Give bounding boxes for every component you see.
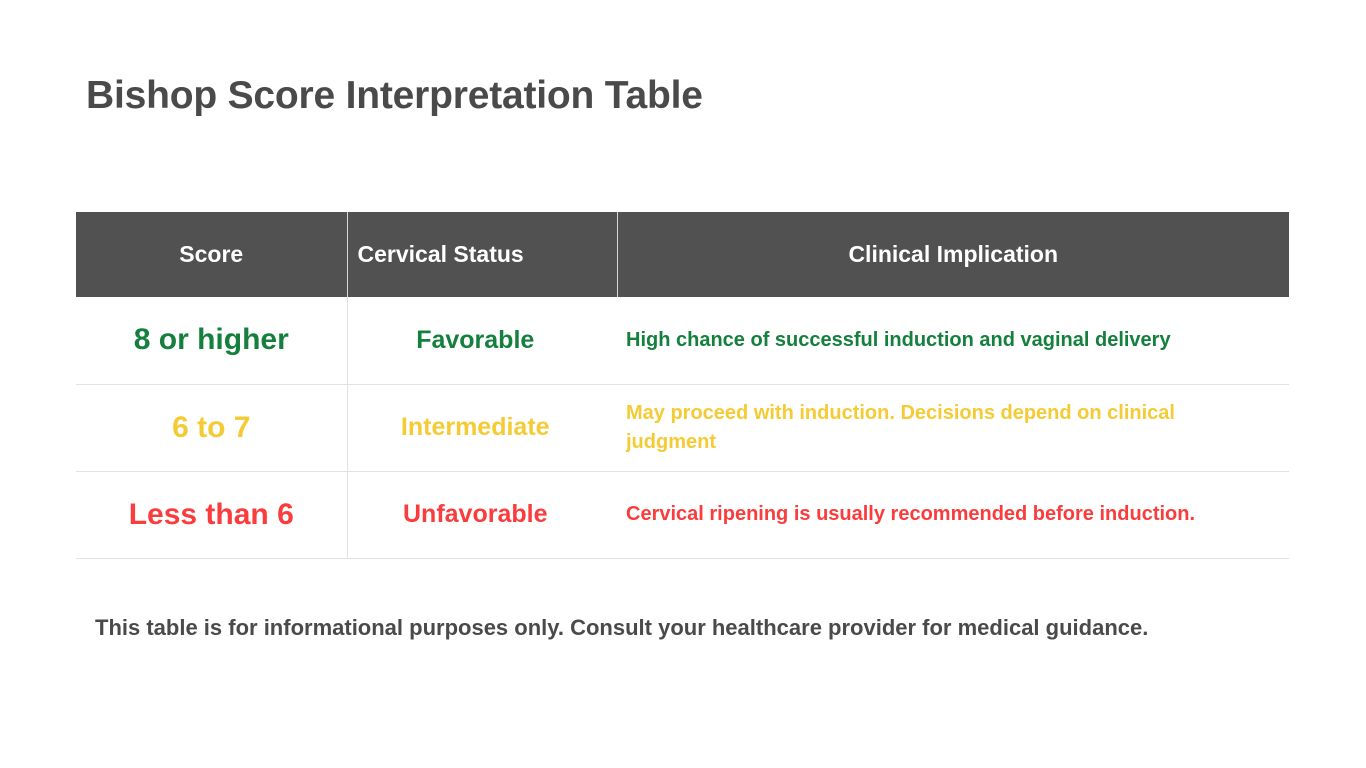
- table-body: 8 or higher Favorable High chance of suc…: [76, 297, 1289, 558]
- table-row: 6 to 7 Intermediate May proceed with ind…: [76, 384, 1289, 471]
- bishop-score-table-container: Score Cervical Status Clinical Implicati…: [76, 212, 1289, 559]
- table-header-row: Score Cervical Status Clinical Implicati…: [76, 212, 1289, 297]
- cell-cervical-status: Favorable: [347, 297, 617, 384]
- table-header: Score Cervical Status Clinical Implicati…: [76, 212, 1289, 297]
- cell-score: Less than 6: [76, 471, 347, 558]
- page-title: Bishop Score Interpretation Table: [86, 74, 703, 118]
- column-header-cervical-status: Cervical Status: [347, 212, 617, 297]
- cell-cervical-status: Unfavorable: [347, 471, 617, 558]
- page-root: Bishop Score Interpretation Table Score …: [0, 0, 1366, 768]
- cell-clinical-implication: High chance of successful induction and …: [617, 297, 1289, 384]
- column-header-score: Score: [76, 212, 347, 297]
- table-row: Less than 6 Unfavorable Cervical ripenin…: [76, 471, 1289, 558]
- cell-clinical-implication: May proceed with induction. Decisions de…: [617, 384, 1289, 471]
- bishop-score-table: Score Cervical Status Clinical Implicati…: [76, 212, 1289, 559]
- column-header-clinical-implication: Clinical Implication: [617, 212, 1289, 297]
- cell-score: 6 to 7: [76, 384, 347, 471]
- cell-cervical-status: Intermediate: [347, 384, 617, 471]
- cell-score: 8 or higher: [76, 297, 347, 384]
- cell-clinical-implication: Cervical ripening is usually recommended…: [617, 471, 1289, 558]
- table-row: 8 or higher Favorable High chance of suc…: [76, 297, 1289, 384]
- disclaimer-note: This table is for informational purposes…: [95, 612, 1285, 644]
